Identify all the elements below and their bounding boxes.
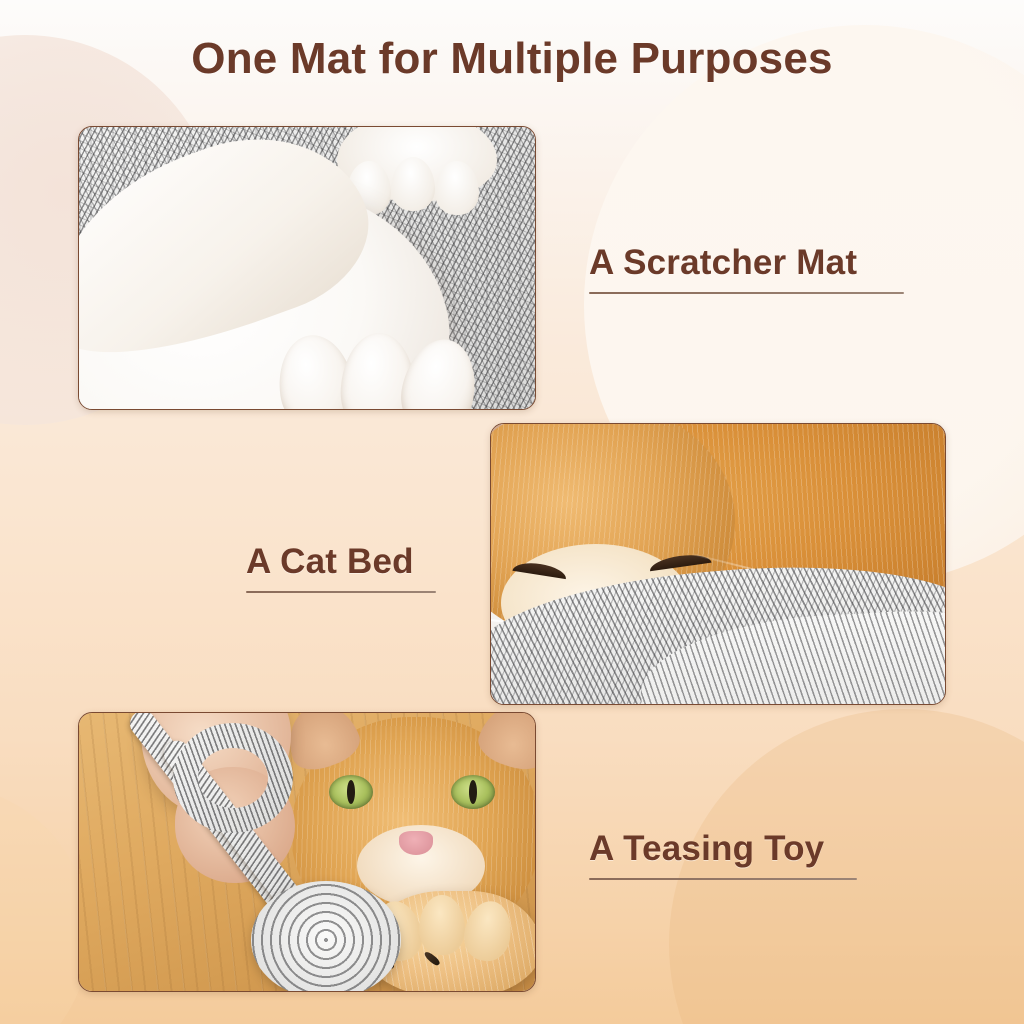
label-underline <box>589 292 904 294</box>
label-scratcher-mat: A Scratcher Mat <box>589 243 904 294</box>
cat-eye-left <box>329 775 373 809</box>
rope-coil <box>251 881 401 991</box>
rope-loop <box>173 723 293 833</box>
cat-eye-right <box>451 775 495 809</box>
label-cat-bed-text: A Cat Bed <box>246 542 436 582</box>
label-cat-bed: A Cat Bed <box>246 542 436 593</box>
photo-cat-bed <box>491 424 945 704</box>
photo-scratcher-mat <box>79 127 535 409</box>
page-title: One Mat for Multiple Purposes <box>0 34 1024 84</box>
cat-toe <box>419 895 465 955</box>
label-underline <box>589 878 857 880</box>
label-underline <box>246 591 436 593</box>
label-teasing-toy: A Teasing Toy <box>589 829 857 880</box>
photo-teasing-toy <box>79 713 535 991</box>
photo-panel-teasing-toy <box>78 712 536 992</box>
label-scratcher-mat-text: A Scratcher Mat <box>589 243 904 283</box>
photo-panel-cat-bed <box>490 423 946 705</box>
photo-panel-scratcher-mat <box>78 126 536 410</box>
decorative-circle-bottom-left <box>0 784 90 1024</box>
poster-canvas: One Mat for Multiple Purposes A Scratche… <box>0 0 1024 1024</box>
label-teasing-toy-text: A Teasing Toy <box>589 829 857 869</box>
